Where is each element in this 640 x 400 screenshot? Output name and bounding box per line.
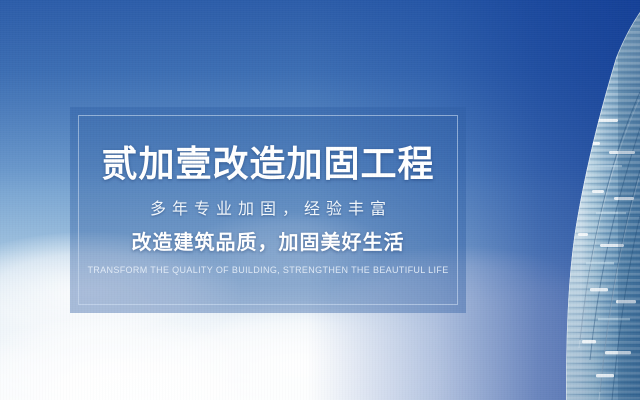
panel-content: 贰加壹改造加固工程 多年专业加固，经验丰富 改造建筑品质，加固美好生活 TRAN… bbox=[70, 107, 466, 313]
subtitle-text: 多年专业加固，经验丰富 bbox=[144, 200, 392, 219]
slogan-text: 改造建筑品质，加固美好生活 bbox=[132, 231, 405, 255]
hero-text-panel: 贰加壹改造加固工程 多年专业加固，经验丰富 改造建筑品质，加固美好生活 TRAN… bbox=[70, 107, 466, 313]
hero-banner: 贰加壹改造加固工程 多年专业加固，经验丰富 改造建筑品质，加固美好生活 TRAN… bbox=[0, 0, 640, 400]
english-tagline: TRANSFORM THE QUALITY OF BUILDING, STREN… bbox=[87, 265, 448, 276]
page-title: 贰加壹改造加固工程 bbox=[101, 144, 434, 184]
